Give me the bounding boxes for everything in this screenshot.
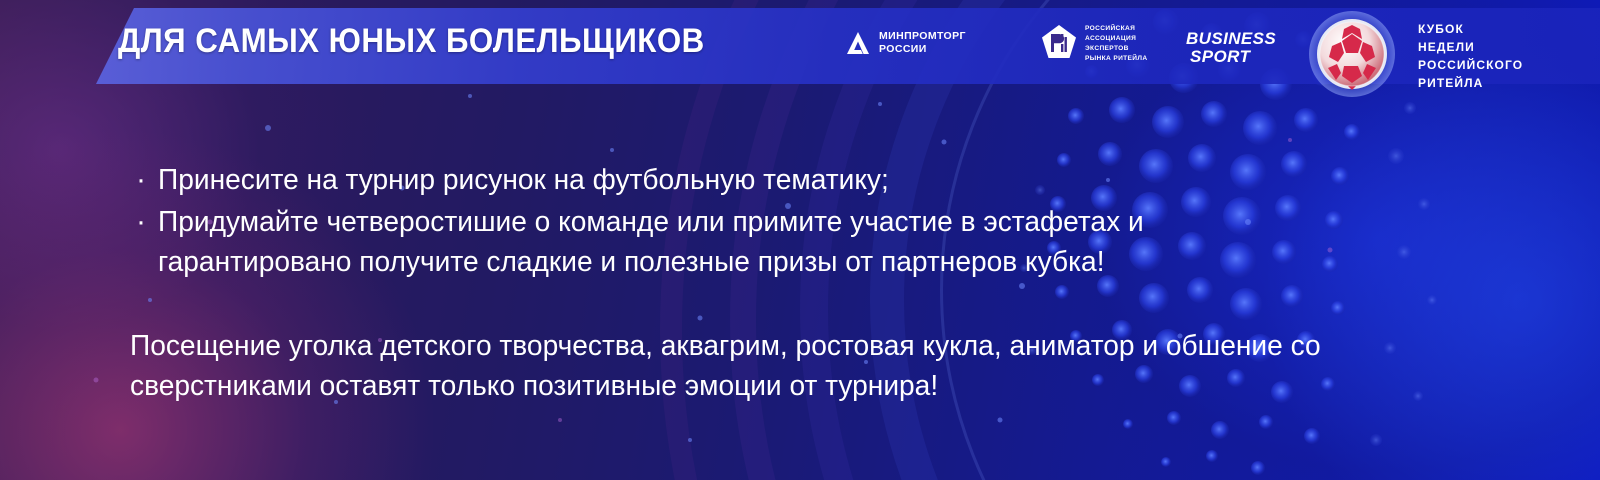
logo-raer-line4: РЫНКА РИТЕЙЛА <box>1085 54 1147 64</box>
bullet-2-text: Придумайте четверостишие о команде или п… <box>158 202 1144 282</box>
soccer-ball-icon <box>1308 10 1396 98</box>
logo-retail-association-text: РОССИЙСКАЯ АССОЦИАЦИЯ ЭКСПЕРТОВ РЫНКА РИ… <box>1085 24 1147 64</box>
list-item: · Придумайте четверостишие о команде или… <box>130 202 1470 282</box>
bullet-list: · Принесите на турнир рисунок на футболь… <box>130 160 1470 282</box>
logo-cup-line3: РОССИЙСКОГО <box>1418 56 1523 74</box>
logo-business-sport-line2: SPORT <box>1186 48 1276 66</box>
bullet-2-line1: Придумайте четверостишие о команде или п… <box>158 202 1144 242</box>
content-body: · Принесите на турнир рисунок на футболь… <box>130 160 1470 406</box>
closing-paragraph: Посещение уголка детского творчества, ак… <box>130 326 1410 406</box>
bullet-marker-icon: · <box>130 160 158 200</box>
logo-raer-line1: РОССИЙСКАЯ <box>1085 24 1147 34</box>
logo-raer-line3: ЭКСПЕРТОВ <box>1085 44 1147 54</box>
sponsor-logos: МИНПРОМТОРГ РОССИИ РОССИЙСКАЯ АССОЦИАЦИЯ… <box>0 0 1600 92</box>
logo-cup-line2: НЕДЕЛИ <box>1418 38 1523 56</box>
logo-minpromtorg-line2: РОССИИ <box>879 43 966 56</box>
triangle-arrow-mark-icon <box>845 30 871 56</box>
paragraph-line1: Посещение уголка детского творчества, ак… <box>130 326 1410 366</box>
logo-business-sport[interactable]: BUSINESS SPORT <box>1186 30 1276 67</box>
logo-cup-line1: КУБОК <box>1418 20 1523 38</box>
promo-banner: ДЛЯ САМЫХ ЮНЫХ БОЛЕЛЬЩИКОВ МИНПРОМТОРГ Р… <box>0 0 1600 480</box>
logo-cup-text: КУБОК НЕДЕЛИ РОССИЙСКОГО РИТЕЙЛА <box>1418 20 1523 92</box>
list-item: · Принесите на турнир рисунок на футболь… <box>130 160 1470 200</box>
logo-business-sport-line1: BUSINESS <box>1186 30 1276 48</box>
bullet-marker-icon: · <box>130 202 158 242</box>
pentagon-emblem-icon <box>1040 24 1078 64</box>
logo-minpromtorg[interactable]: МИНПРОМТОРГ РОССИИ <box>845 30 966 56</box>
bullet-2-line2: гарантировано получите сладкие и полезны… <box>158 242 1144 282</box>
paragraph-line2: сверстниками оставят только позитивные э… <box>130 366 1410 406</box>
logo-cup-line4: РИТЕЙЛА <box>1418 74 1523 92</box>
logo-retail-association[interactable]: РОССИЙСКАЯ АССОЦИАЦИЯ ЭКСПЕРТОВ РЫНКА РИ… <box>1040 24 1147 64</box>
logo-raer-line2: АССОЦИАЦИЯ <box>1085 34 1147 44</box>
logo-cup-of-retail-week[interactable]: КУБОК НЕДЕЛИ РОССИЙСКОГО РИТЕЙЛА <box>1300 2 1596 106</box>
logo-minpromtorg-line1: МИНПРОМТОРГ <box>879 30 966 43</box>
logo-minpromtorg-text: МИНПРОМТОРГ РОССИИ <box>879 30 966 56</box>
bullet-1-line1: Принесите на турнир рисунок на футбольну… <box>158 160 889 200</box>
